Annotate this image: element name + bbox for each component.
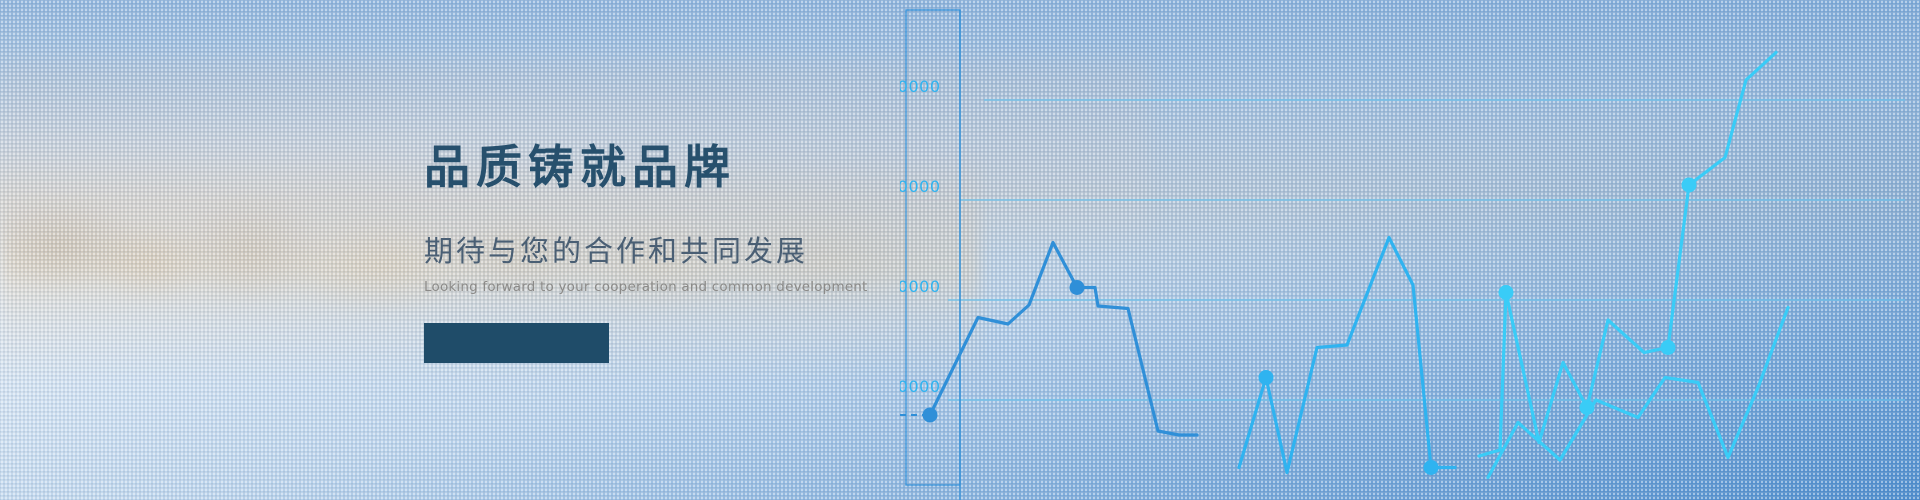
chart-gridlines	[948, 100, 1905, 400]
series-data-point	[1682, 178, 1697, 193]
y-axis-tick-label: 80000	[900, 177, 941, 196]
y-axis-tick-label: 40000	[900, 377, 941, 396]
chart-canvas: 400006000080000100000	[900, 0, 1920, 500]
banner-copy: 品质铸就品牌 期待与您的合作和共同发展 Looking forward to y…	[424, 140, 894, 363]
banner-cta-button[interactable]	[424, 323, 609, 363]
series-data-point	[1661, 340, 1676, 355]
series-data-point	[923, 408, 938, 423]
y-axis-tick-label: 60000	[900, 277, 941, 296]
y-axis-tick-label: 100000	[900, 77, 941, 96]
banner-subheadline-cn: 期待与您的合作和共同发展	[424, 234, 894, 269]
series-data-point	[1424, 460, 1439, 475]
series-data-point	[1499, 285, 1514, 300]
hero-banner: 品质铸就品牌 期待与您的合作和共同发展 Looking forward to y…	[0, 0, 1920, 500]
series-line	[1488, 308, 1788, 478]
chart-series	[923, 53, 1789, 478]
series-data-point	[1070, 280, 1085, 295]
line-chart: 400006000080000100000	[900, 0, 1920, 500]
series-line	[930, 243, 1197, 436]
series-line	[1239, 238, 1455, 473]
banner-subheadline-en: Looking forward to your cooperation and …	[424, 279, 894, 296]
banner-headline: 品质铸就品牌	[424, 140, 894, 194]
series-line	[1479, 53, 1776, 457]
series-data-point	[1259, 370, 1274, 385]
